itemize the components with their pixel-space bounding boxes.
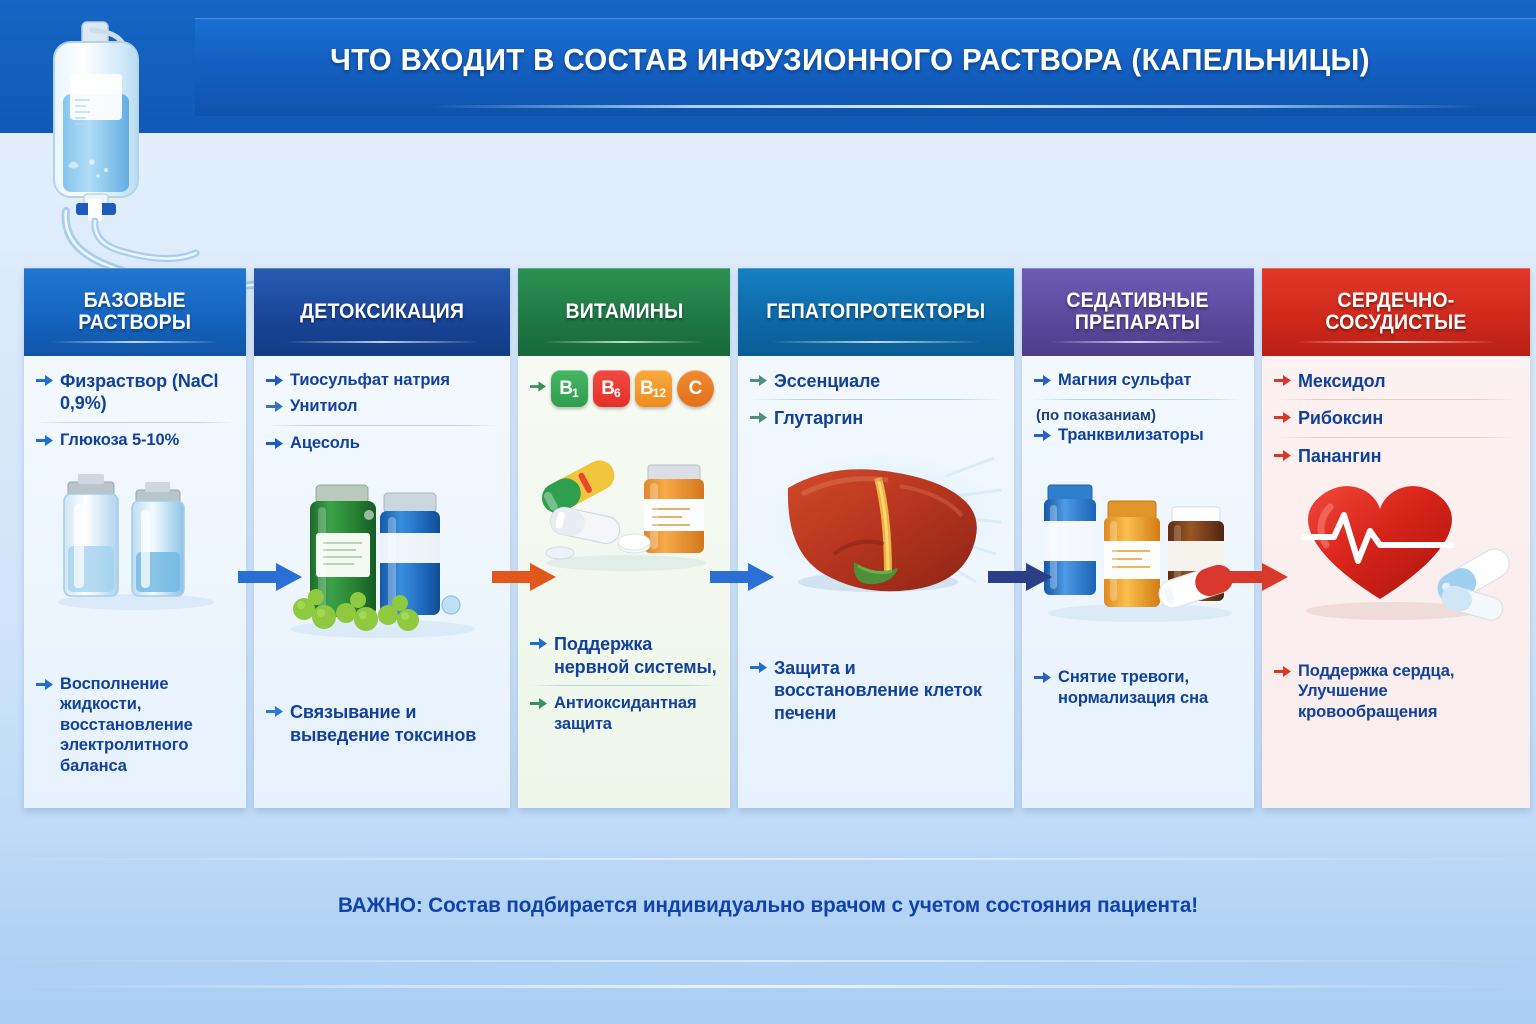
header-shine (1050, 341, 1226, 343)
arrow-right-icon (530, 637, 547, 655)
header-shine (1294, 341, 1498, 343)
vitamin-badge-sub: 1 (572, 386, 579, 400)
list-item-label: Панангин (1298, 445, 1381, 467)
footer-divider-base (0, 985, 1536, 988)
card-sedatives[interactable]: СЕДАТИВНЫЕ ПРЕПАРАТЫ Магния сульфат (по … (1022, 268, 1254, 808)
card-cardiovascular[interactable]: СЕРДЕЧНО- СОСУДИСТЫЕ Мексидол Рибоксин (1262, 268, 1530, 808)
header-shine (51, 341, 220, 343)
list-item-label: Глутаргин (774, 407, 863, 429)
outcome-vitamins: Поддержка нервной системы, Антиоксидантн… (530, 633, 720, 736)
vitamin-badge-b1[interactable]: B1 (551, 370, 588, 407)
card-title-sedative: СЕДАТИВНЫЕ ПРЕПАРАТЫ (1067, 290, 1209, 335)
list-item-label: Тиосульфат натрия (290, 370, 450, 390)
list-item-label: Унитиол (290, 396, 357, 416)
two-glass-vials-icon (36, 460, 236, 610)
list-item-label: Ацесоль (290, 433, 360, 453)
flow-arrow-4 (988, 562, 1054, 592)
pill-bottles-and-capsule-icon (1034, 463, 1244, 628)
outcome-label: Восполнение жидкости, восстановление эле… (60, 674, 236, 776)
divider (1034, 399, 1242, 400)
arrow-right-icon (36, 678, 53, 696)
outcome-item: Антиоксидантная защита (530, 693, 720, 734)
list-item-label: Мексидол (1298, 370, 1385, 392)
divider (750, 399, 1002, 400)
arrow-right-icon (36, 374, 53, 392)
vitamin-badge-label: B (559, 378, 573, 400)
card-header-cardio: СЕРДЕЧНО- СОСУДИСТЫЕ (1262, 268, 1530, 356)
card-detox[interactable]: ДЕТОКСИКАЦИЯ Тиосульфат натрия Унитиол (254, 268, 510, 808)
page-title: ЧТО ВХОДИТ В СОСТАВ ИНФУЗИОННОГО РАСТВОР… (247, 42, 1454, 78)
heart-with-ecg-line-and-capsule-icon (1274, 471, 1520, 631)
card-title-cardio: СЕРДЕЧНО- СОСУДИСТЫЕ (1325, 290, 1466, 335)
liver-organ-icon (750, 442, 1004, 607)
list-item[interactable]: Тиосульфат натрия (266, 370, 500, 392)
card-header-vitamins: ВИТАМИНЫ (518, 268, 730, 356)
footer-divider-top (0, 858, 1536, 860)
outcome-label: Поддержка сердца, Улучшение кровообращен… (1298, 661, 1520, 722)
card-body-base: Физраствор (NaCl 0,9%) Глюкоза 5-10% (24, 356, 246, 808)
card-body-cardio: Мексидол Рибоксин Панангин (1262, 356, 1530, 808)
card-body-hepato: Эссенциале Глутаргин (738, 356, 1014, 808)
vitamin-badge-c[interactable]: C (677, 370, 714, 407)
divider (1274, 437, 1518, 438)
card-header-detox: ДЕТОКСИКАЦИЯ (254, 268, 510, 356)
vitamin-badge-b12[interactable]: B12 (635, 370, 672, 407)
list-item[interactable]: Панангин (1274, 445, 1520, 467)
flow-arrow-5 (1224, 562, 1290, 592)
card-header-sedative: СЕДАТИВНЫЕ ПРЕПАРАТЫ (1022, 268, 1254, 356)
arrow-right-icon (266, 400, 283, 418)
vitamin-badge-row: B1 B6 B12 C (530, 370, 720, 407)
arrow-right-icon (750, 374, 767, 392)
divider (530, 685, 718, 686)
arrow-right-icon (530, 380, 546, 398)
vitamin-badge-label: B (640, 378, 654, 400)
card-title-base: БАЗОВЫЕ РАСТВОРЫ (79, 290, 192, 335)
outcome-label: Поддержка нервной системы, (554, 633, 720, 678)
list-item-label: Транквилизаторы (1058, 425, 1204, 445)
outcome-label: Связывание и выведение токсинов (290, 701, 500, 746)
list-item-label: Глюкоза 5-10% (60, 430, 179, 450)
flow-arrow-3 (710, 562, 776, 592)
arrow-right-icon (36, 434, 53, 452)
list-item[interactable]: Эссенциале (750, 370, 1004, 392)
outcome-item: Поддержка нервной системы, (530, 633, 720, 678)
arrow-right-icon (1034, 374, 1051, 392)
divider (266, 425, 498, 426)
arrow-right-icon (1274, 449, 1291, 467)
divider (36, 422, 234, 423)
card-title-detox: ДЕТОКСИКАЦИЯ (300, 301, 464, 323)
footer-note: ВАЖНО: Состав подбирается индивидуально … (31, 893, 1506, 918)
capsules-tablets-and-pill-bottle-icon (530, 415, 720, 575)
card-vitamins[interactable]: ВИТАМИНЫ B1 B6 B12 C (518, 268, 730, 808)
arrow-right-icon (266, 374, 283, 392)
list-item-label: Магния сульфат (1058, 370, 1191, 390)
list-item[interactable]: Физраствор (NaCl 0,9%) (36, 370, 236, 415)
card-body-sedative: Магния сульфат (по показаниам) Транквили… (1022, 356, 1254, 808)
vitamin-badge-sub: 12 (653, 386, 666, 400)
arrow-right-icon (750, 411, 767, 429)
list-item[interactable]: Ацесоль (266, 433, 500, 455)
vitamin-badge-sub: 6 (614, 386, 621, 400)
footer-divider-bottom (0, 960, 1536, 962)
outcome-detox: Связывание и выведение токсинов (266, 701, 500, 748)
arrow-right-icon (1034, 671, 1051, 689)
outcome-cardio: Поддержка сердца, Улучшение кровообращен… (1274, 661, 1520, 724)
list-item[interactable]: Глутаргин (750, 407, 1004, 429)
green-and-blue-bottles-with-granules-icon (266, 457, 500, 642)
card-hepatoprotectors[interactable]: ГЕПАТОПРОТЕКТОРЫ Эссенциале Глутаргин (738, 268, 1014, 808)
outcome-hepato: Защита и восстановление клеток печени (750, 657, 1004, 726)
outcome-sedative: Снятие тревоги, нормализация сна (1034, 667, 1244, 710)
flow-arrow-2 (492, 562, 558, 592)
vitamin-badge-b6[interactable]: B6 (593, 370, 630, 407)
arrow-right-icon (1274, 374, 1291, 392)
vitamin-badge-label: B (601, 378, 615, 400)
outcome-label: Снятие тревоги, нормализация сна (1058, 667, 1244, 708)
category-cards-row: БАЗОВЫЕ РАСТВОРЫ Физраствор (NaCl 0,9%) … (24, 268, 1516, 808)
list-item-label: Эссенциале (774, 370, 880, 392)
arrow-right-icon (266, 705, 283, 723)
arrow-right-icon (1274, 411, 1291, 429)
vitamin-badge-label: C (689, 378, 703, 400)
outcome-base: Восполнение жидкости, восстановление эле… (36, 674, 236, 778)
header-shine (285, 341, 480, 343)
list-item[interactable]: Унитиол (266, 396, 500, 418)
card-header-hepato: ГЕПАТОПРОТЕКТОРЫ (738, 268, 1014, 356)
card-header-base: БАЗОВЫЕ РАСТВОРЫ (24, 268, 246, 356)
header-shine (771, 341, 981, 343)
list-item[interactable]: Транквилизаторы (1034, 425, 1244, 447)
divider (1274, 399, 1518, 400)
flow-arrow-1 (238, 562, 304, 592)
outcome-label: Защита и восстановление клеток печени (774, 657, 1004, 724)
arrow-right-icon (530, 697, 547, 715)
card-title-vitamins: ВИТАМИНЫ (565, 301, 683, 323)
arrow-right-icon (1034, 429, 1051, 447)
list-item-note: (по показаниам) (1036, 407, 1244, 424)
list-item-label: Физраствор (NaCl 0,9%) (60, 370, 236, 415)
card-base-solutions[interactable]: БАЗОВЫЕ РАСТВОРЫ Физраствор (NaCl 0,9%) … (24, 268, 246, 808)
header-shine (543, 341, 704, 343)
header-underline (430, 105, 1480, 108)
card-title-hepato: ГЕПАТОПРОТЕКТОРЫ (766, 301, 985, 323)
arrow-right-icon (1274, 665, 1291, 683)
list-item[interactable]: Глюкоза 5-10% (36, 430, 236, 452)
outcome-label: Антиоксидантная защита (554, 693, 720, 734)
arrow-right-icon (750, 661, 767, 679)
list-item[interactable]: Мексидол (1274, 370, 1520, 392)
list-item[interactable]: Магния сульфат (1034, 370, 1244, 392)
list-item-label: Рибоксин (1298, 407, 1383, 429)
arrow-right-icon (266, 437, 283, 455)
list-item[interactable]: Рибоксин (1274, 407, 1520, 429)
